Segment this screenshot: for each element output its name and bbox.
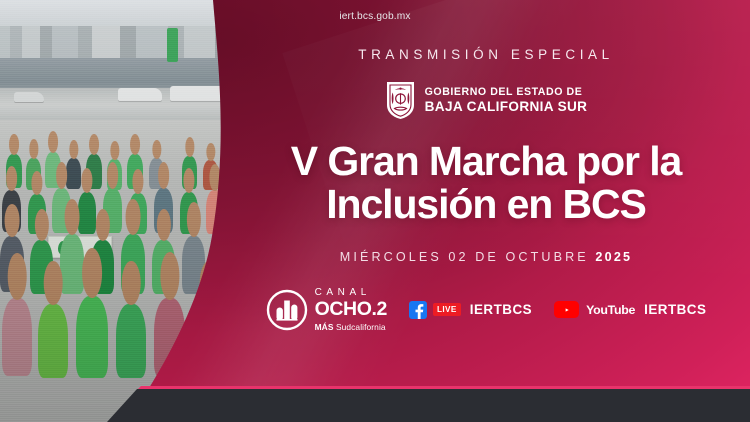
broadcast-promo-graphic: TRANSMISIÓN ESPECIAL GOBIERNO DEL ESTADO… [0,0,750,422]
bcs-coat-of-arms-icon [385,81,416,120]
event-title-line-2: Inclusión en BCS [291,183,681,226]
canal-name: OCHO.2 [315,300,387,320]
promo-content: TRANSMISIÓN ESPECIAL GOBIERNO DEL ESTADO… [222,0,750,392]
photo-green-flag [167,28,178,62]
photo-person [76,296,108,378]
canal-tagline-bold: MÁS [315,322,334,332]
photo-person [66,158,81,189]
channel-logo-row: CANAL OCHO.2 MÁS Sudcalifornia LIVE IERT… [266,288,707,331]
photo-person [38,304,68,378]
photo-person [2,298,32,376]
photo-person [78,192,96,234]
footer-url[interactable]: iert.bcs.gob.mx [0,0,750,33]
event-date: MIÉRCOLES 02 DE OCTUBRE 2025 [340,250,633,264]
government-lockup: GOBIERNO DEL ESTADO DE BAJA CALIFORNIA S… [385,81,588,120]
event-date-text: MIÉRCOLES 02 DE OCTUBRE [340,250,589,264]
youtube-play-icon [554,301,579,319]
canal-label: CANAL [315,288,387,298]
government-text: GOBIERNO DEL ESTADO DE BAJA CALIFORNIA S… [425,86,588,114]
canal-tagline-rest: Sudcalifornia [334,322,386,332]
facebook-live-logo[interactable]: LIVE IERTBCS [409,301,532,319]
photo-boat-2 [170,86,228,101]
event-date-year: 2025 [595,250,632,264]
canal-ocho-text: CANAL OCHO.2 MÁS Sudcalifornia [315,288,387,331]
eyebrow-label: TRANSMISIÓN ESPECIAL [358,47,614,62]
government-line-1: GOBIERNO DEL ESTADO DE [425,86,588,98]
photo-person [60,234,84,294]
facebook-f-icon [409,301,427,319]
canal-ocho-logo[interactable]: CANAL OCHO.2 MÁS Sudcalifornia [266,288,387,331]
youtube-wordmark: YouTube [586,303,635,317]
photo-boat-3 [14,92,44,102]
event-title: V Gran Marcha por la Inclusión en BCS [291,140,681,225]
event-title-line-1: V Gran Marcha por la [291,140,681,183]
youtube-handle: IERTBCS [644,302,706,317]
canal-ocho-circle-icon [266,289,308,331]
photo-boat-1 [118,88,162,101]
youtube-logo[interactable]: YouTube IERTBCS [554,301,706,319]
photo-person [116,304,146,378]
canal-tagline: MÁS Sudcalifornia [315,323,387,331]
government-line-2: BAJA CALIFORNIA SUR [425,99,588,115]
live-badge: LIVE [433,303,461,316]
facebook-handle: IERTBCS [470,302,532,317]
